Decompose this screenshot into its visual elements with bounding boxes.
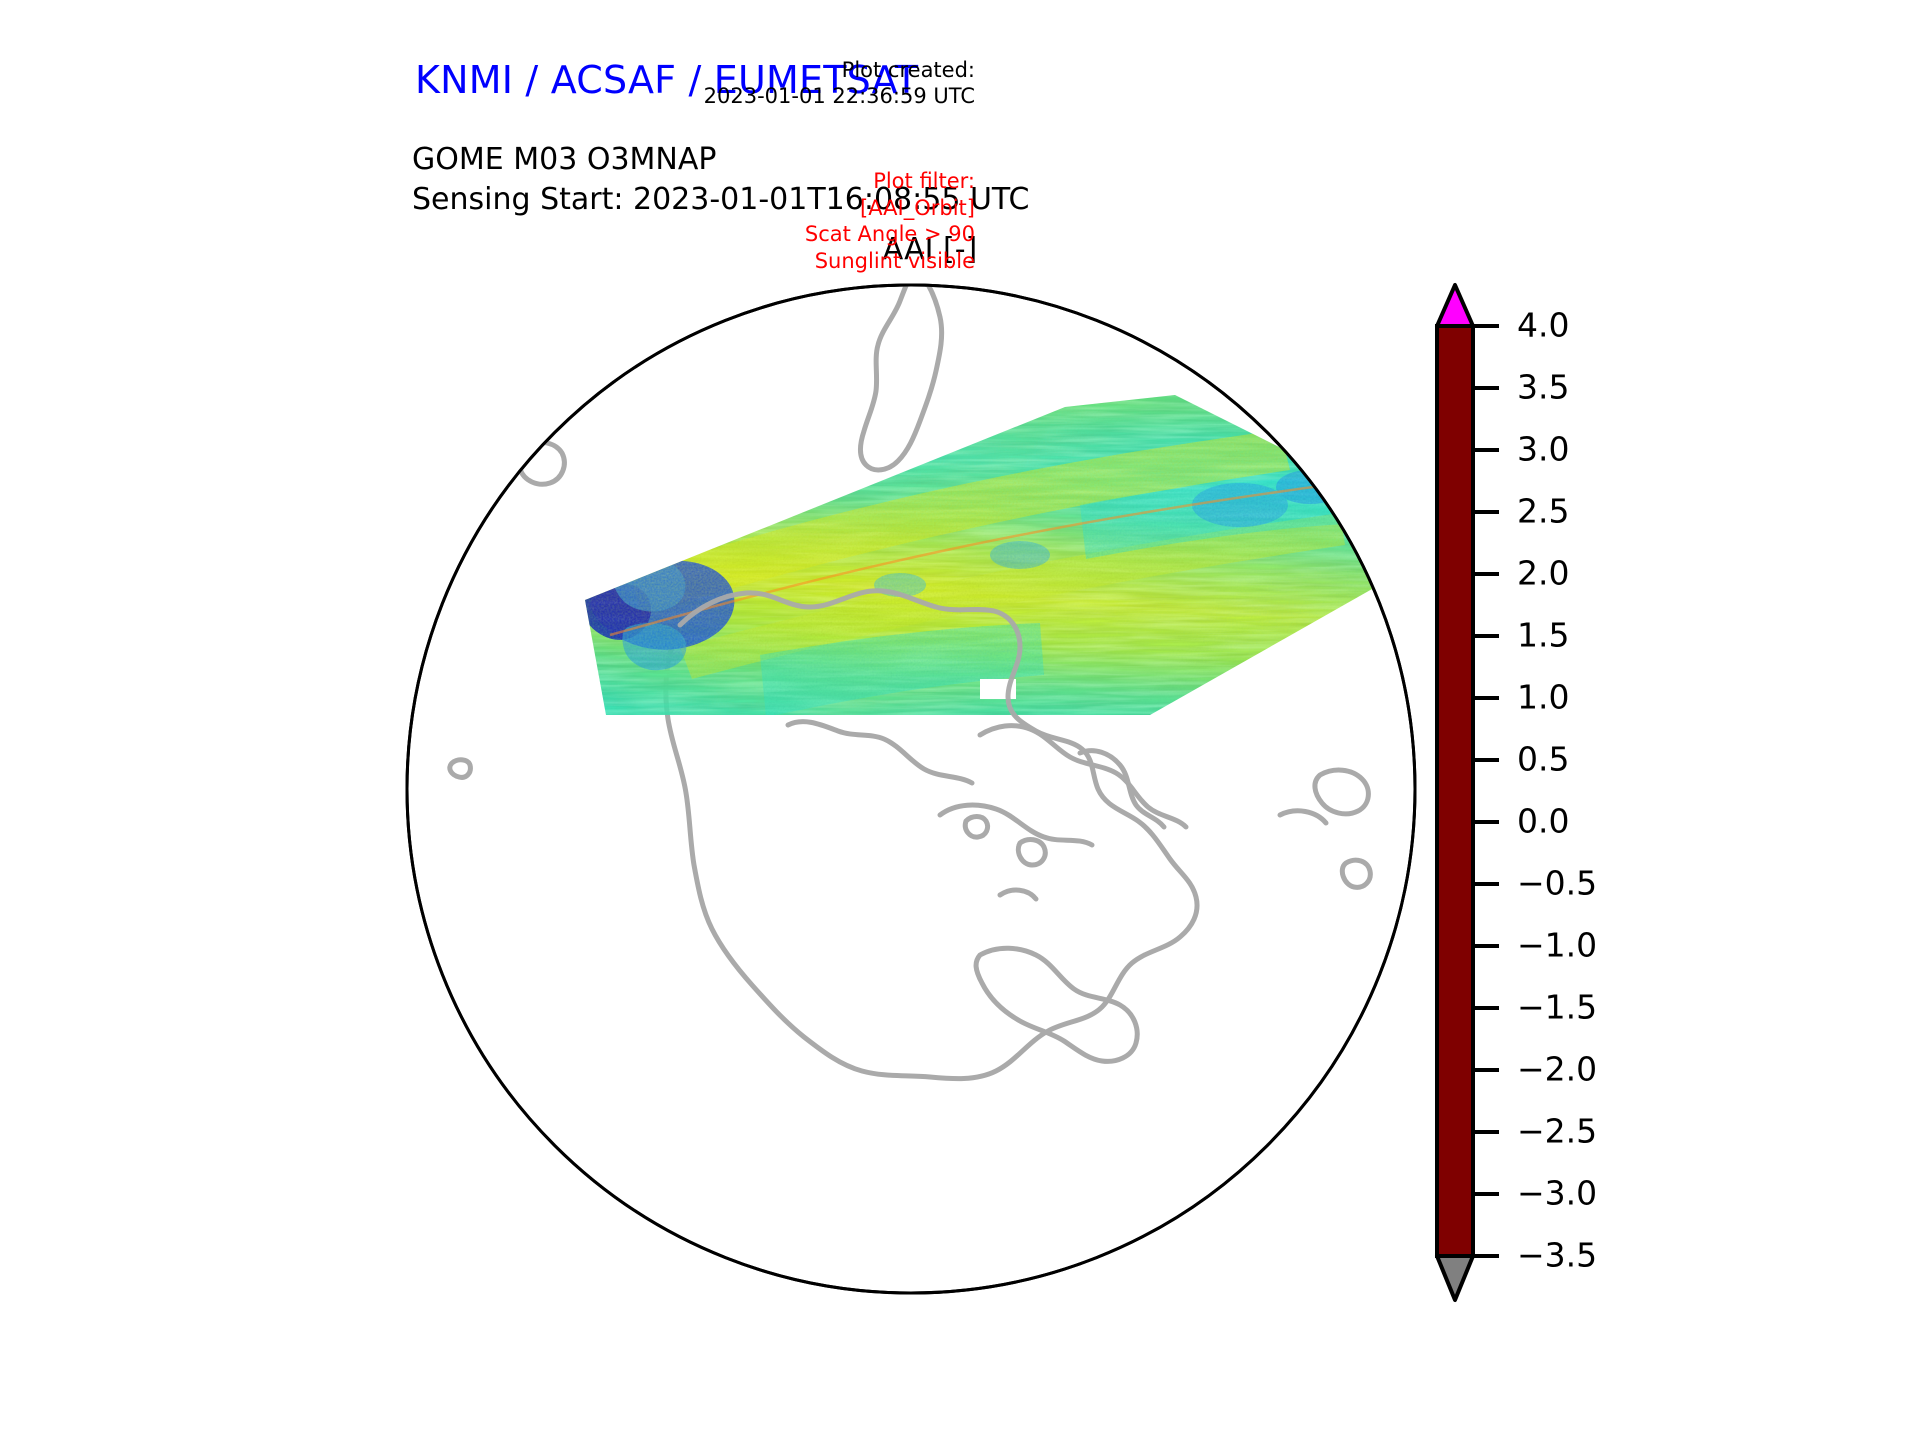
colorbar-tick-label: 0.0: [1517, 802, 1569, 841]
plot-page: KNMI / ACSAF / EUMETSAT Plot created: 20…: [0, 0, 1920, 1440]
plot-created-block: Plot created: 2023-01-01 22:36:59 UTC: [704, 58, 975, 109]
colorbar-tick-label: −1.0: [1517, 926, 1597, 965]
colorbar-tick-label: −1.5: [1517, 988, 1597, 1027]
colorbar-under-arrow: [1437, 1256, 1473, 1300]
colorbar-tick-label: 3.0: [1517, 430, 1569, 469]
map-panel: [380, 255, 1440, 1330]
colorbar-tick-label: 1.0: [1517, 678, 1569, 717]
colorbar-tick-label: 0.5: [1517, 740, 1569, 779]
colorbar-tick-label: 2.0: [1517, 554, 1569, 593]
colorbar-ticks: 4.03.53.02.52.01.51.00.50.0−0.5−1.0−1.5−…: [1473, 306, 1597, 1275]
colorbar-tick-label: 1.5: [1517, 616, 1569, 655]
plot-created-label: Plot created:: [704, 58, 975, 84]
filter-condition: Scat Angle > 90: [805, 221, 975, 248]
coastline-arc-land: [476, 389, 513, 423]
colorbar-tick-label: −3.5: [1517, 1236, 1597, 1275]
colorbar-tick-label: −3.0: [1517, 1174, 1597, 1213]
plot-created-value: 2023-01-01 22:36:59 UTC: [704, 84, 975, 110]
colorbar-panel[interactable]: 4.03.53.02.52.01.51.00.50.0−0.5−1.0−1.5−…: [1425, 270, 1755, 1320]
colorbar-tick-label: −0.5: [1517, 864, 1597, 903]
colorbar-tick-label: 3.5: [1517, 368, 1569, 407]
colorbar-tick-label: 4.0: [1517, 306, 1569, 345]
filter-name: [AAI_Orbit]: [805, 195, 975, 222]
filter-label: Plot filter:: [805, 168, 975, 195]
colorbar-tick-label: −2.0: [1517, 1050, 1597, 1089]
colorbar-tick-label: −2.5: [1517, 1112, 1597, 1151]
colorbar-gradient[interactable]: [1437, 326, 1473, 1256]
colorbar-tick-label: 2.5: [1517, 492, 1569, 531]
colorbar-over-arrow: [1437, 285, 1473, 326]
polar-map: [380, 255, 1440, 1330]
colorbar[interactable]: 4.03.53.02.52.01.51.00.50.0−0.5−1.0−1.5−…: [1425, 270, 1755, 1320]
